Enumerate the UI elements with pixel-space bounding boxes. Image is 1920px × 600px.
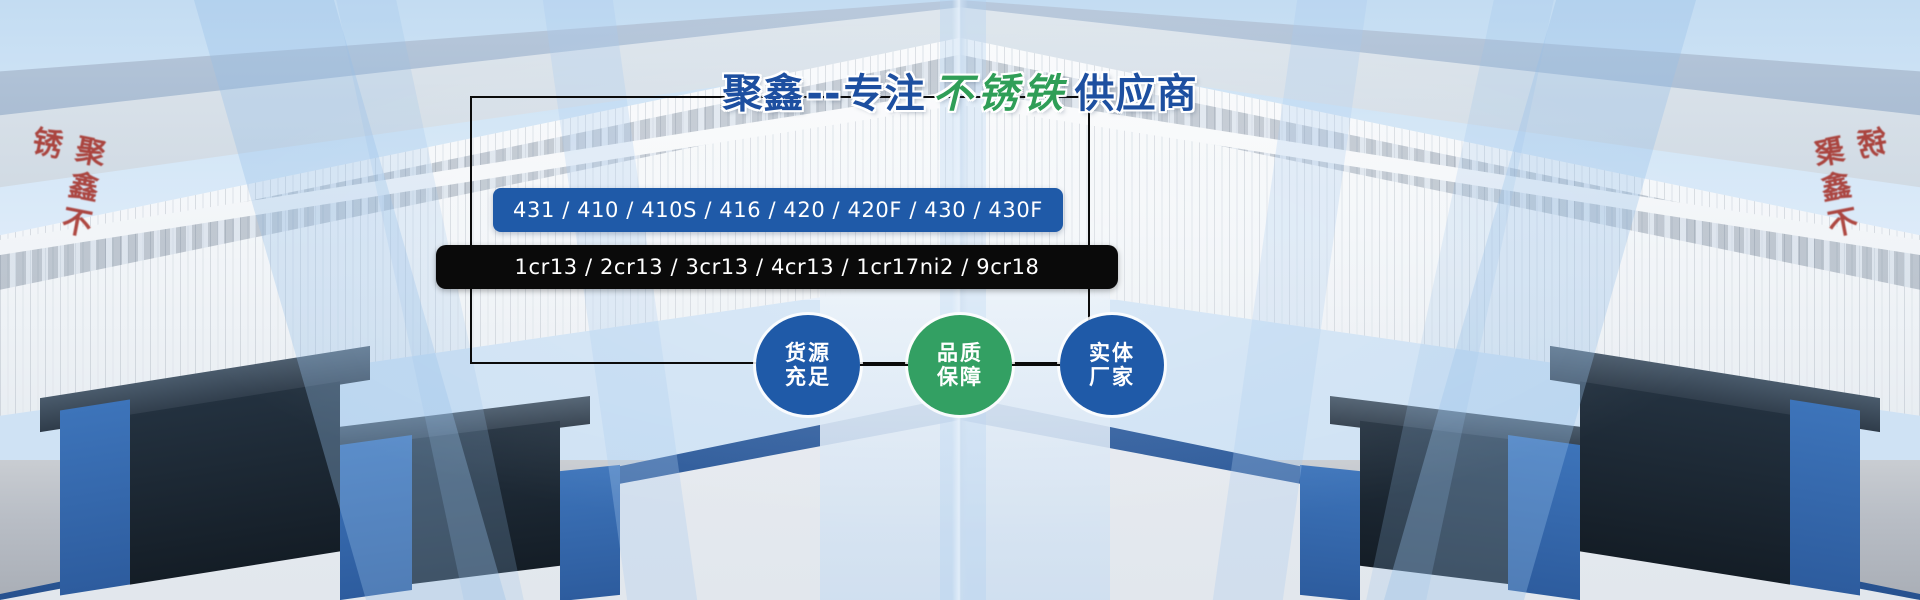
title-tail: 供应商	[1075, 74, 1198, 114]
banner-stage: 聚鑫不锈 聚鑫不锈	[0, 0, 1920, 600]
title-brand: 聚鑫	[722, 74, 804, 114]
banner-content: 聚鑫--专注不锈铁供应商 431 / 410 / 410S / 416 / 42…	[0, 0, 1920, 600]
title-focus: 专注	[844, 74, 926, 114]
title-dash: --	[804, 74, 843, 114]
feature-badges: 货源 充足 品质 保障 实体 厂家	[0, 305, 1920, 425]
feature-badge-line2: 保障	[937, 365, 983, 389]
grades-bar-blue-text: 431 / 410 / 410S / 416 / 420 / 420F / 43…	[513, 198, 1043, 222]
grades-bar-blue: 431 / 410 / 410S / 416 / 420 / 420F / 43…	[493, 188, 1063, 232]
grades-bar-black-text: 1cr13 / 2cr13 / 3cr13 / 4cr13 / 1cr17ni2…	[514, 255, 1039, 279]
badge-connector-line	[860, 364, 908, 366]
badge-connector-line	[1012, 364, 1060, 366]
feature-badge-line1: 货源	[785, 341, 831, 365]
feature-badge-line1: 品质	[937, 341, 983, 365]
feature-badge-quality: 品质 保障	[908, 315, 1012, 415]
feature-badge-line2: 充足	[785, 365, 831, 389]
grades-bar-black: 1cr13 / 2cr13 / 3cr13 / 4cr13 / 1cr17ni2…	[436, 245, 1118, 289]
banner-title: 聚鑫--专注不锈铁供应商	[0, 74, 1920, 114]
title-highlight: 不锈铁	[926, 74, 1075, 114]
feature-badge-line1: 实体	[1089, 341, 1135, 365]
feature-badge-line2: 厂家	[1089, 365, 1135, 389]
feature-badge-supply: 货源 充足	[756, 315, 860, 415]
feature-badge-factory: 实体 厂家	[1060, 315, 1164, 415]
